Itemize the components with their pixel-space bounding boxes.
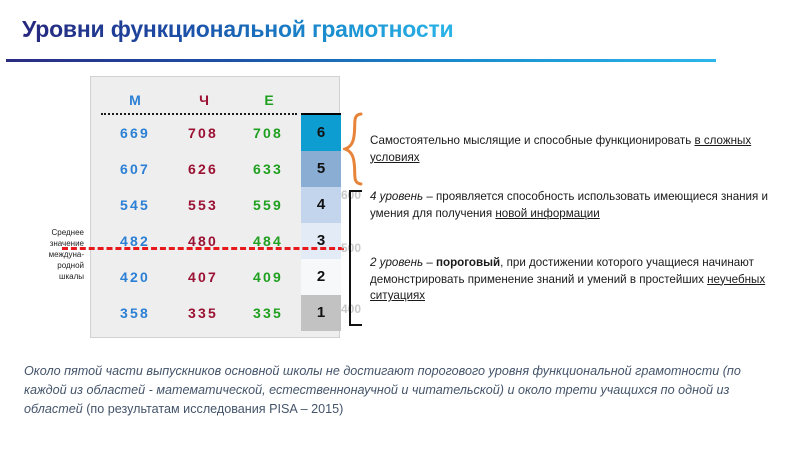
cell-science: 633 xyxy=(237,151,299,187)
table-row: 420 407 409 2 xyxy=(91,259,341,295)
cell-reading: 626 xyxy=(172,151,234,187)
levels-table-inner: М Ч Е 669 708 708 6 607 626 633 5 545 55… xyxy=(91,77,339,337)
cell-science: 559 xyxy=(237,187,299,223)
table-row: 669 708 708 6 xyxy=(91,115,341,151)
cell-math: 358 xyxy=(104,295,166,331)
note-2-italic: 4 уровень xyxy=(370,190,423,203)
note-1-plain: Самостоятельно мыслящие и способные функ… xyxy=(370,134,694,147)
level-badge: 4 xyxy=(301,187,341,223)
table-row: 607 626 633 5 xyxy=(91,151,341,187)
note-level-6: Самостоятельно мыслящие и способные функ… xyxy=(370,133,790,166)
footer-plain: (по результатам исследования PISA – 2015… xyxy=(86,402,343,416)
note-2-underlined: новой информации xyxy=(495,207,599,220)
orange-curly-brace xyxy=(343,112,365,186)
note-3-plain-1: – xyxy=(423,256,436,269)
cell-math: 545 xyxy=(104,187,166,223)
note-3-bold: пороговый xyxy=(436,256,500,269)
note-3-italic: 2 уровень xyxy=(370,256,423,269)
cell-reading: 708 xyxy=(172,115,234,151)
black-square-bracket xyxy=(349,190,362,326)
cell-science: 335 xyxy=(237,295,299,331)
level-badge: 1 xyxy=(301,295,341,331)
cell-reading: 553 xyxy=(172,187,234,223)
table-row: 358 335 335 1 xyxy=(91,295,341,331)
column-header-reading: Ч xyxy=(174,92,234,108)
table-row: 482 480 484 3 xyxy=(91,223,341,259)
cell-reading: 480 xyxy=(172,223,234,259)
level-badge: 6 xyxy=(301,115,341,151)
cell-reading: 407 xyxy=(172,259,234,295)
international-mean-line xyxy=(62,247,344,250)
level-badge: 5 xyxy=(301,151,341,187)
footer-summary: Около пятой части выпускников основной ш… xyxy=(24,362,780,419)
mean-scale-label: Среднеезначениемеждуна-роднойшкалы xyxy=(22,227,84,282)
page-title: Уровни функциональной грамотности xyxy=(22,16,453,43)
cell-math: 607 xyxy=(104,151,166,187)
cell-math: 669 xyxy=(104,115,166,151)
note-level-4: 4 уровень – проявляется способность испо… xyxy=(370,189,790,222)
cell-reading: 335 xyxy=(172,295,234,331)
cell-science: 484 xyxy=(237,223,299,259)
cell-math: 420 xyxy=(104,259,166,295)
note-level-2: 2 уровень – пороговый, при достижении ко… xyxy=(370,255,790,305)
cell-math: 482 xyxy=(104,223,166,259)
column-header-science: Е xyxy=(239,92,299,108)
table-row: 545 553 559 4 xyxy=(91,187,341,223)
cell-science: 409 xyxy=(237,259,299,295)
levels-table: М Ч Е 669 708 708 6 607 626 633 5 545 55… xyxy=(90,76,340,338)
title-divider xyxy=(6,59,716,62)
level-badge: 2 xyxy=(301,259,341,295)
cell-science: 708 xyxy=(237,115,299,151)
column-header-math: М xyxy=(105,92,165,108)
level-badge: 3 xyxy=(301,223,341,259)
